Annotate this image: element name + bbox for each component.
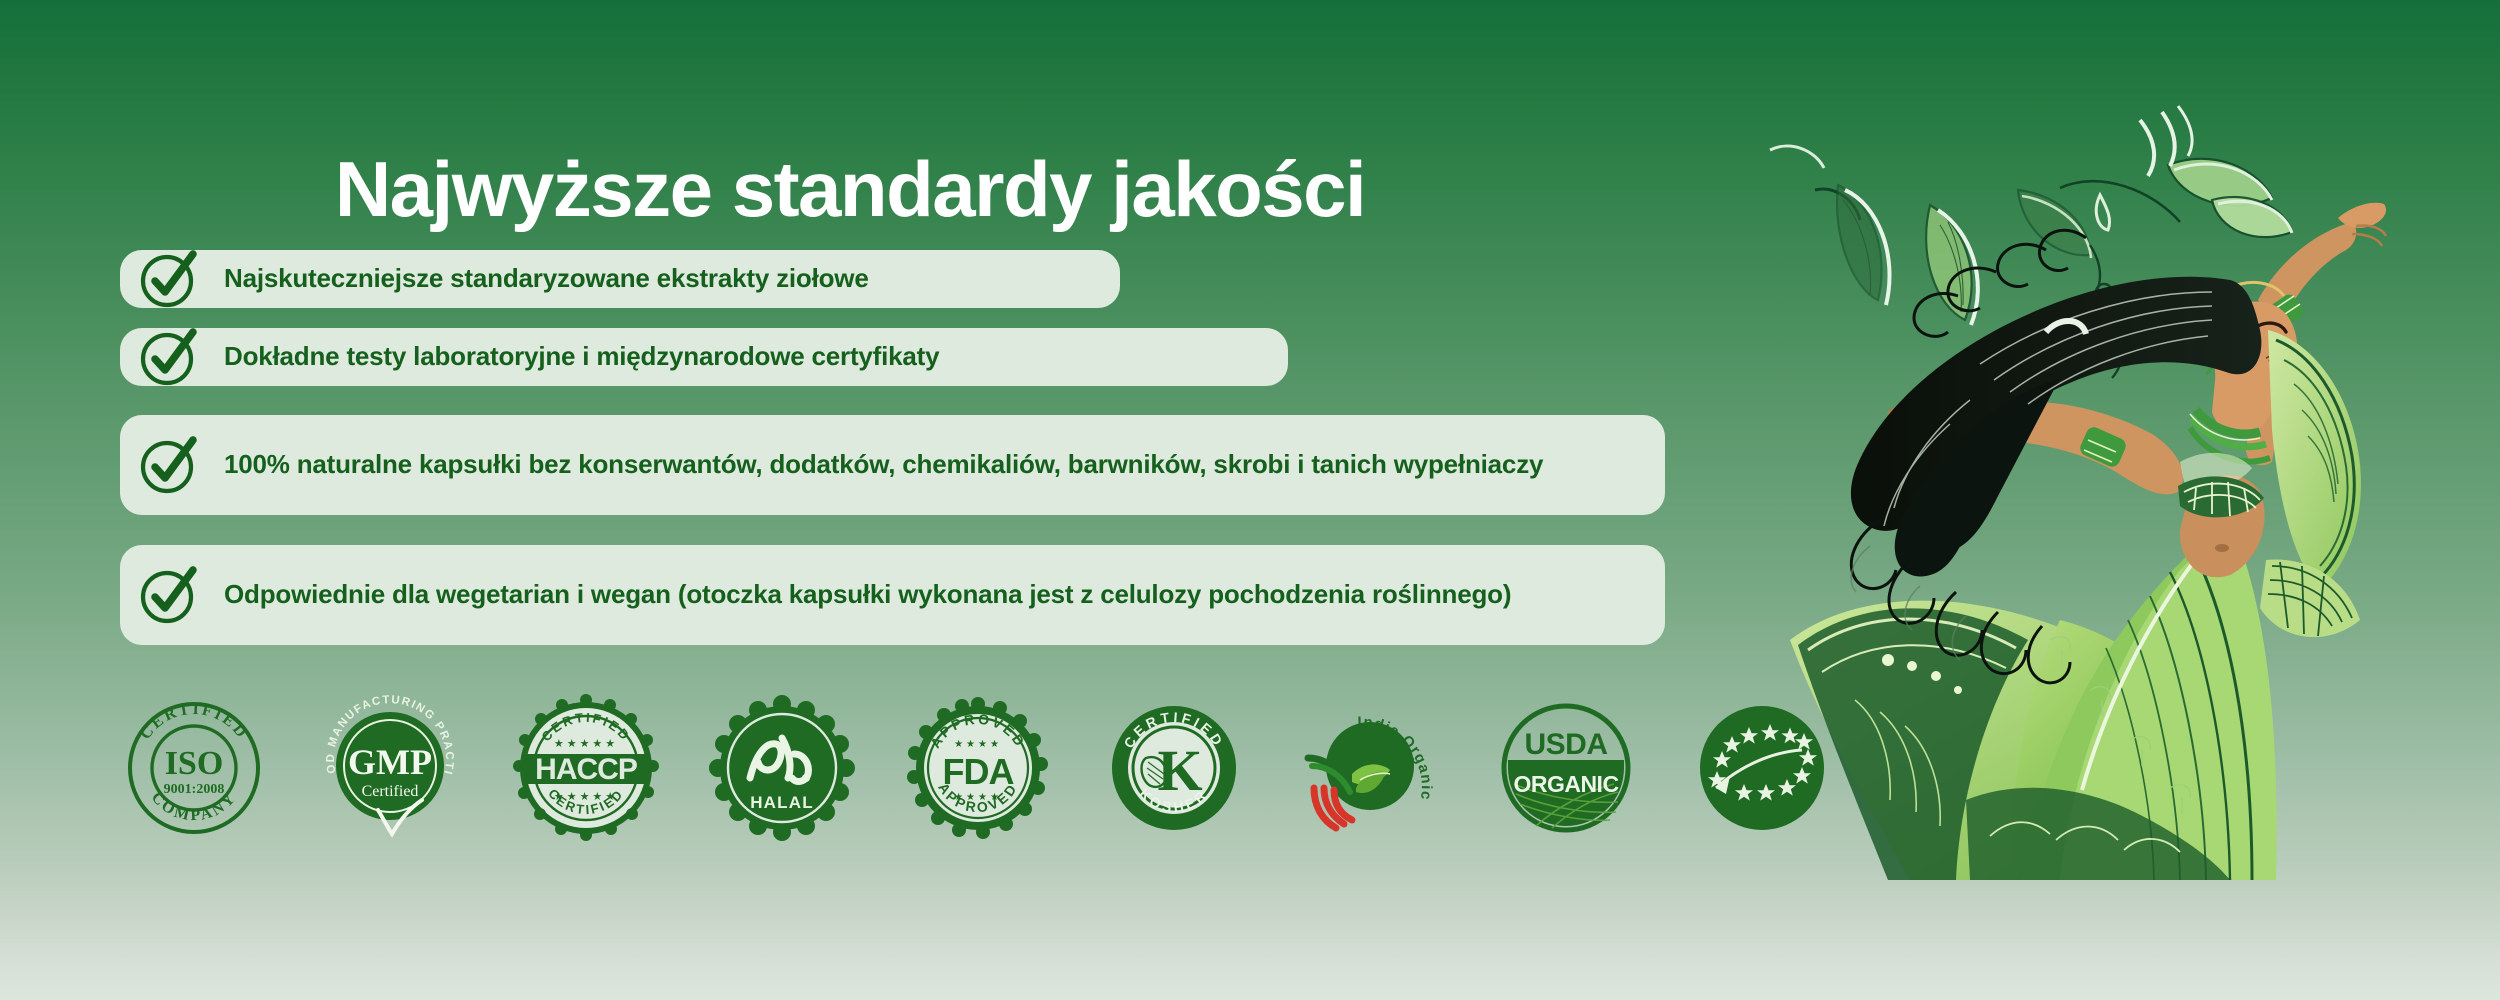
check-circle-icon — [138, 564, 200, 626]
page-title: Najwyższe standardy jakości — [0, 150, 1700, 228]
svg-text:Certified: Certified — [362, 783, 419, 800]
check-circle-icon — [138, 326, 200, 388]
svg-text:★★★★★: ★★★★★ — [554, 791, 618, 803]
dupatta-sleeve — [2260, 330, 2361, 637]
sari-skirt — [1790, 520, 2277, 880]
svg-text:★★★★★: ★★★★★ — [554, 738, 618, 750]
svg-text:K: K — [1157, 738, 1202, 803]
svg-text:ISO: ISO — [165, 745, 224, 782]
svg-text:USDA: USDA — [1524, 728, 1607, 761]
fda-badge: APPROVED APPROVED ★★★★ ★★★★ FDA — [902, 692, 1054, 844]
svg-text:HACCP: HACCP — [535, 753, 637, 786]
svg-text:ORGANIC: ORGANIC — [1513, 771, 1618, 797]
svg-text:★★★★: ★★★★ — [954, 792, 1002, 803]
feature-pill: Odpowiednie dla wegetarian i wegan (otoc… — [120, 545, 1665, 645]
usda-organic-badge: USDA ORGANIC — [1490, 692, 1642, 844]
floating-leaves — [1770, 106, 2292, 378]
feature-text: Dokładne testy laboratoryjne i międzynar… — [224, 339, 939, 374]
svg-text:CERTIFIED: CERTIFIED — [137, 701, 251, 743]
kosher-badge: CERTIFIED KOSHER K — [1098, 692, 1250, 844]
eu-organic-badge — [1686, 692, 1838, 844]
feature-pill: Najskuteczniejsze standaryzowane ekstrak… — [120, 250, 1120, 308]
gmp-badge: GOOD MANUFACTURING PRACTICE GMP Certifie… — [314, 692, 466, 844]
haccp-badge: HACCP CERTIFIED CERTIFIED ★★★★★ ★★★★★ — [510, 692, 662, 844]
india-organic-badge: India Organic — [1294, 692, 1446, 844]
check-circle-icon — [138, 248, 200, 310]
feature-text: Najskuteczniejsze standaryzowane ekstrak… — [224, 261, 869, 296]
halal-badge: HALAL — [706, 692, 858, 844]
svg-text:HALAL: HALAL — [750, 793, 814, 812]
indian-dancer-illustration — [1760, 0, 2500, 880]
iso-badge: CERTIFIED COMPANY ISO 9001:2008 — [118, 692, 270, 844]
svg-text:FDA: FDA — [943, 751, 1015, 792]
svg-text:★★★★: ★★★★ — [954, 739, 1002, 750]
feature-pill: 100% naturalne kapsułki bez konserwantów… — [120, 415, 1665, 515]
dancer-body — [1888, 203, 2386, 577]
feature-pill: Dokładne testy laboratoryjne i międzynar… — [120, 328, 1288, 386]
svg-text:9001:2008: 9001:2008 — [164, 782, 225, 797]
feature-text: Odpowiednie dla wegetarian i wegan (otoc… — [224, 577, 1511, 612]
quality-standards-banner: Najwyższe standardy jakości Najskuteczni… — [0, 0, 2500, 1000]
check-circle-icon — [138, 434, 200, 496]
flowing-hair — [1851, 230, 2261, 683]
svg-text:GMP: GMP — [348, 742, 432, 782]
feature-text: 100% naturalne kapsułki bez konserwantów… — [224, 447, 1543, 482]
certification-badges: CERTIFIED COMPANY ISO 9001:2008 GOOD MAN… — [118, 688, 1838, 848]
